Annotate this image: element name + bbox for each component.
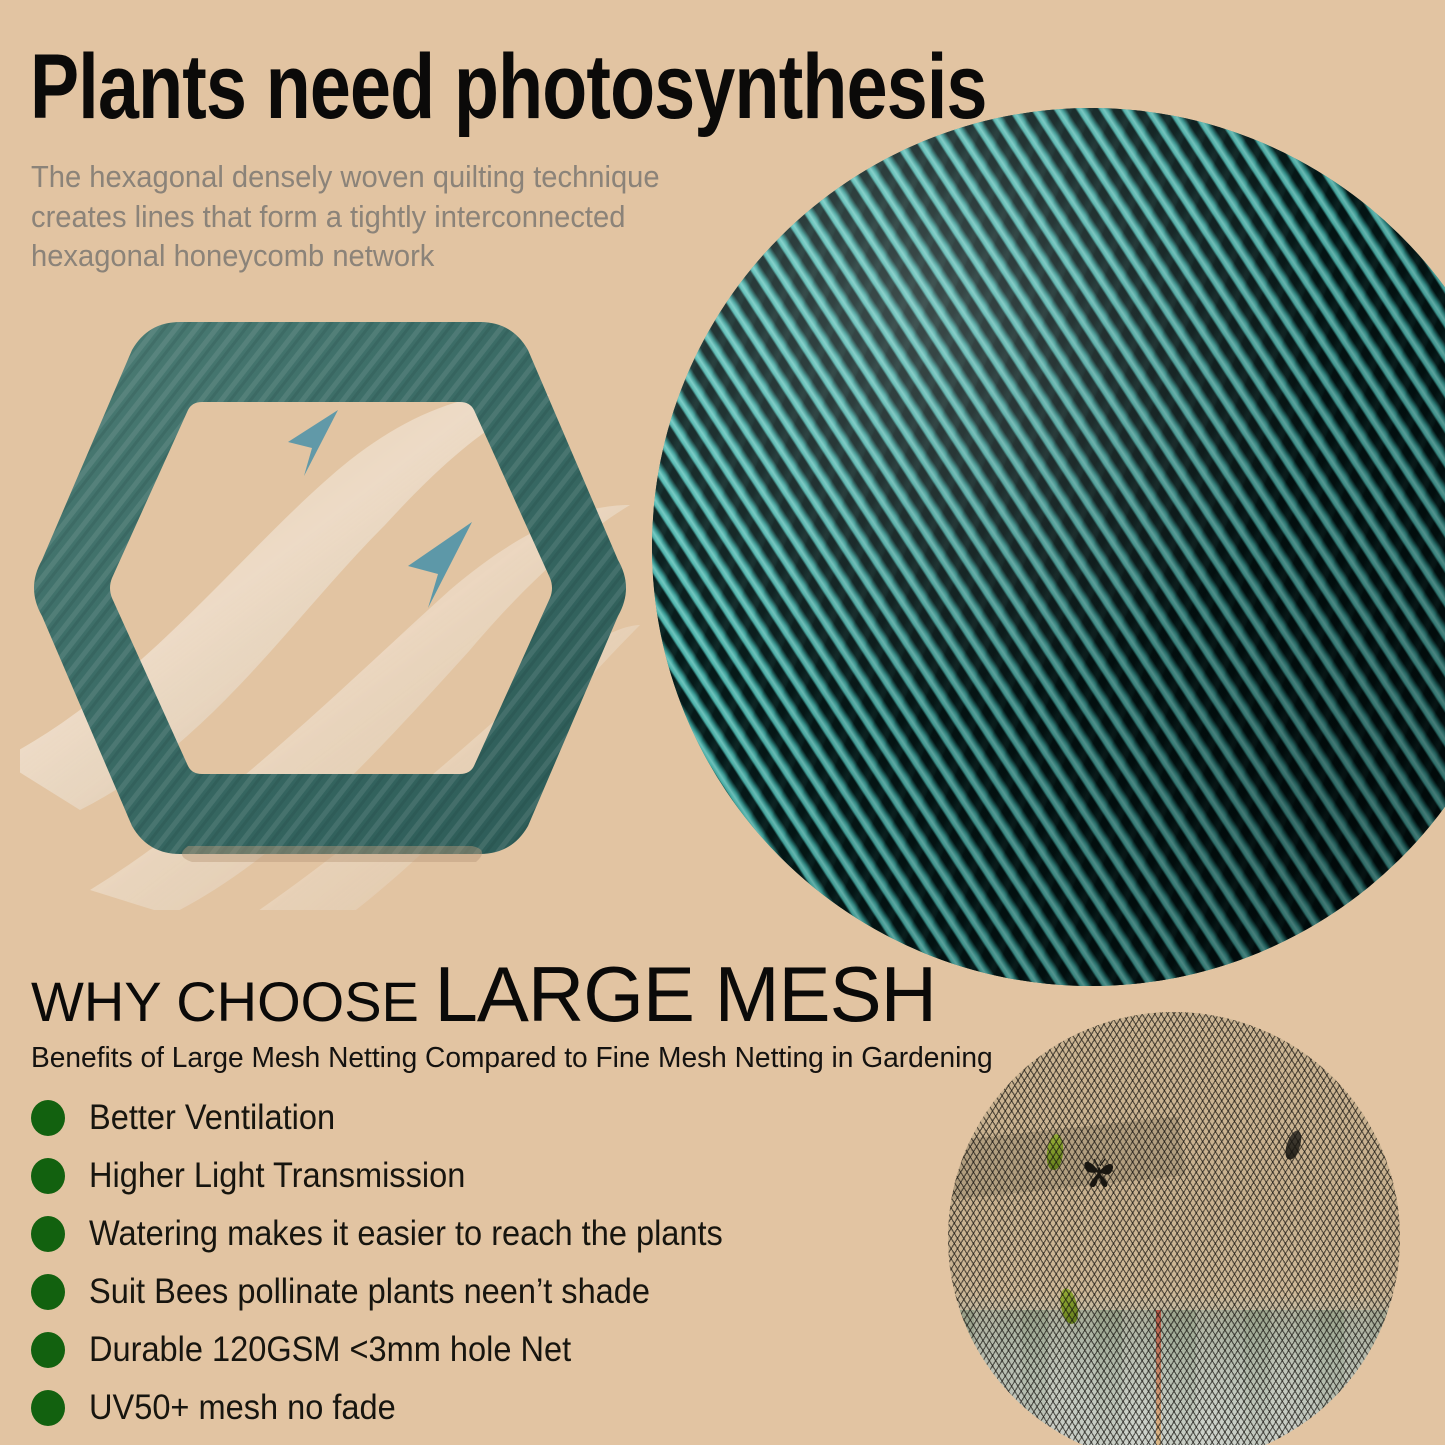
list-item: Durable 120GSM <3mm hole Net (31, 1322, 891, 1378)
section-heading-small: WHY CHOOSE (31, 970, 419, 1033)
list-item: Better Ventilation (31, 1090, 891, 1146)
hexagon-airflow-diagram (0, 280, 700, 930)
mesh-lighting-overlay (652, 108, 1445, 986)
subtitle-line-3: hexagonal honeycomb network (31, 236, 717, 276)
benefit-label: Suit Bees pollinate plants neen’t shade (89, 1272, 650, 1312)
section-heading-large: LARGE MESH (434, 950, 935, 1038)
subtitle-line-2: creates lines that form a tightly interc… (31, 197, 717, 237)
hexagon-ring-icon (20, 290, 640, 910)
bullet-dot-icon (31, 1274, 65, 1310)
subtitle-line-1: The hexagonal densely woven quilting tec… (31, 157, 717, 197)
product-infographic-poster: Plants need photosynthesis The hexagonal… (0, 0, 1445, 1445)
page-title: Plants need photosynthesis (30, 44, 734, 131)
subtitle-paragraph: The hexagonal densely woven quilting tec… (31, 157, 717, 276)
bullet-dot-icon (31, 1332, 65, 1368)
benefit-label: Higher Light Transmission (89, 1156, 465, 1196)
hexagon-ring-shape (34, 322, 626, 862)
bullet-dot-icon (31, 1158, 65, 1194)
section-heading: WHY CHOOSE LARGE MESH (31, 955, 936, 1033)
benefits-list: Better Ventilation Higher Light Transmis… (31, 1090, 891, 1438)
list-item: Higher Light Transmission (31, 1148, 891, 1204)
airflow-arrow-upper-icon (288, 410, 338, 476)
benefit-label: Better Ventilation (89, 1098, 335, 1138)
bullet-dot-icon (31, 1216, 65, 1252)
teal-large-mesh-closeup (652, 108, 1445, 986)
section-subheading: Benefits of Large Mesh Netting Compared … (31, 1042, 993, 1075)
benefit-label: Watering makes it easier to reach the pl… (89, 1214, 723, 1254)
fine-mesh-net-garden-photo (948, 1012, 1400, 1445)
benefit-label: UV50+ mesh no fade (89, 1388, 396, 1428)
list-item: UV50+ mesh no fade (31, 1380, 891, 1436)
bullet-dot-icon (31, 1390, 65, 1426)
list-item: Suit Bees pollinate plants neen’t shade (31, 1264, 891, 1320)
bullet-dot-icon (31, 1100, 65, 1136)
benefit-label: Durable 120GSM <3mm hole Net (89, 1330, 571, 1370)
list-item: Watering makes it easier to reach the pl… (31, 1206, 891, 1262)
net-photo-vignette (948, 1012, 1400, 1445)
